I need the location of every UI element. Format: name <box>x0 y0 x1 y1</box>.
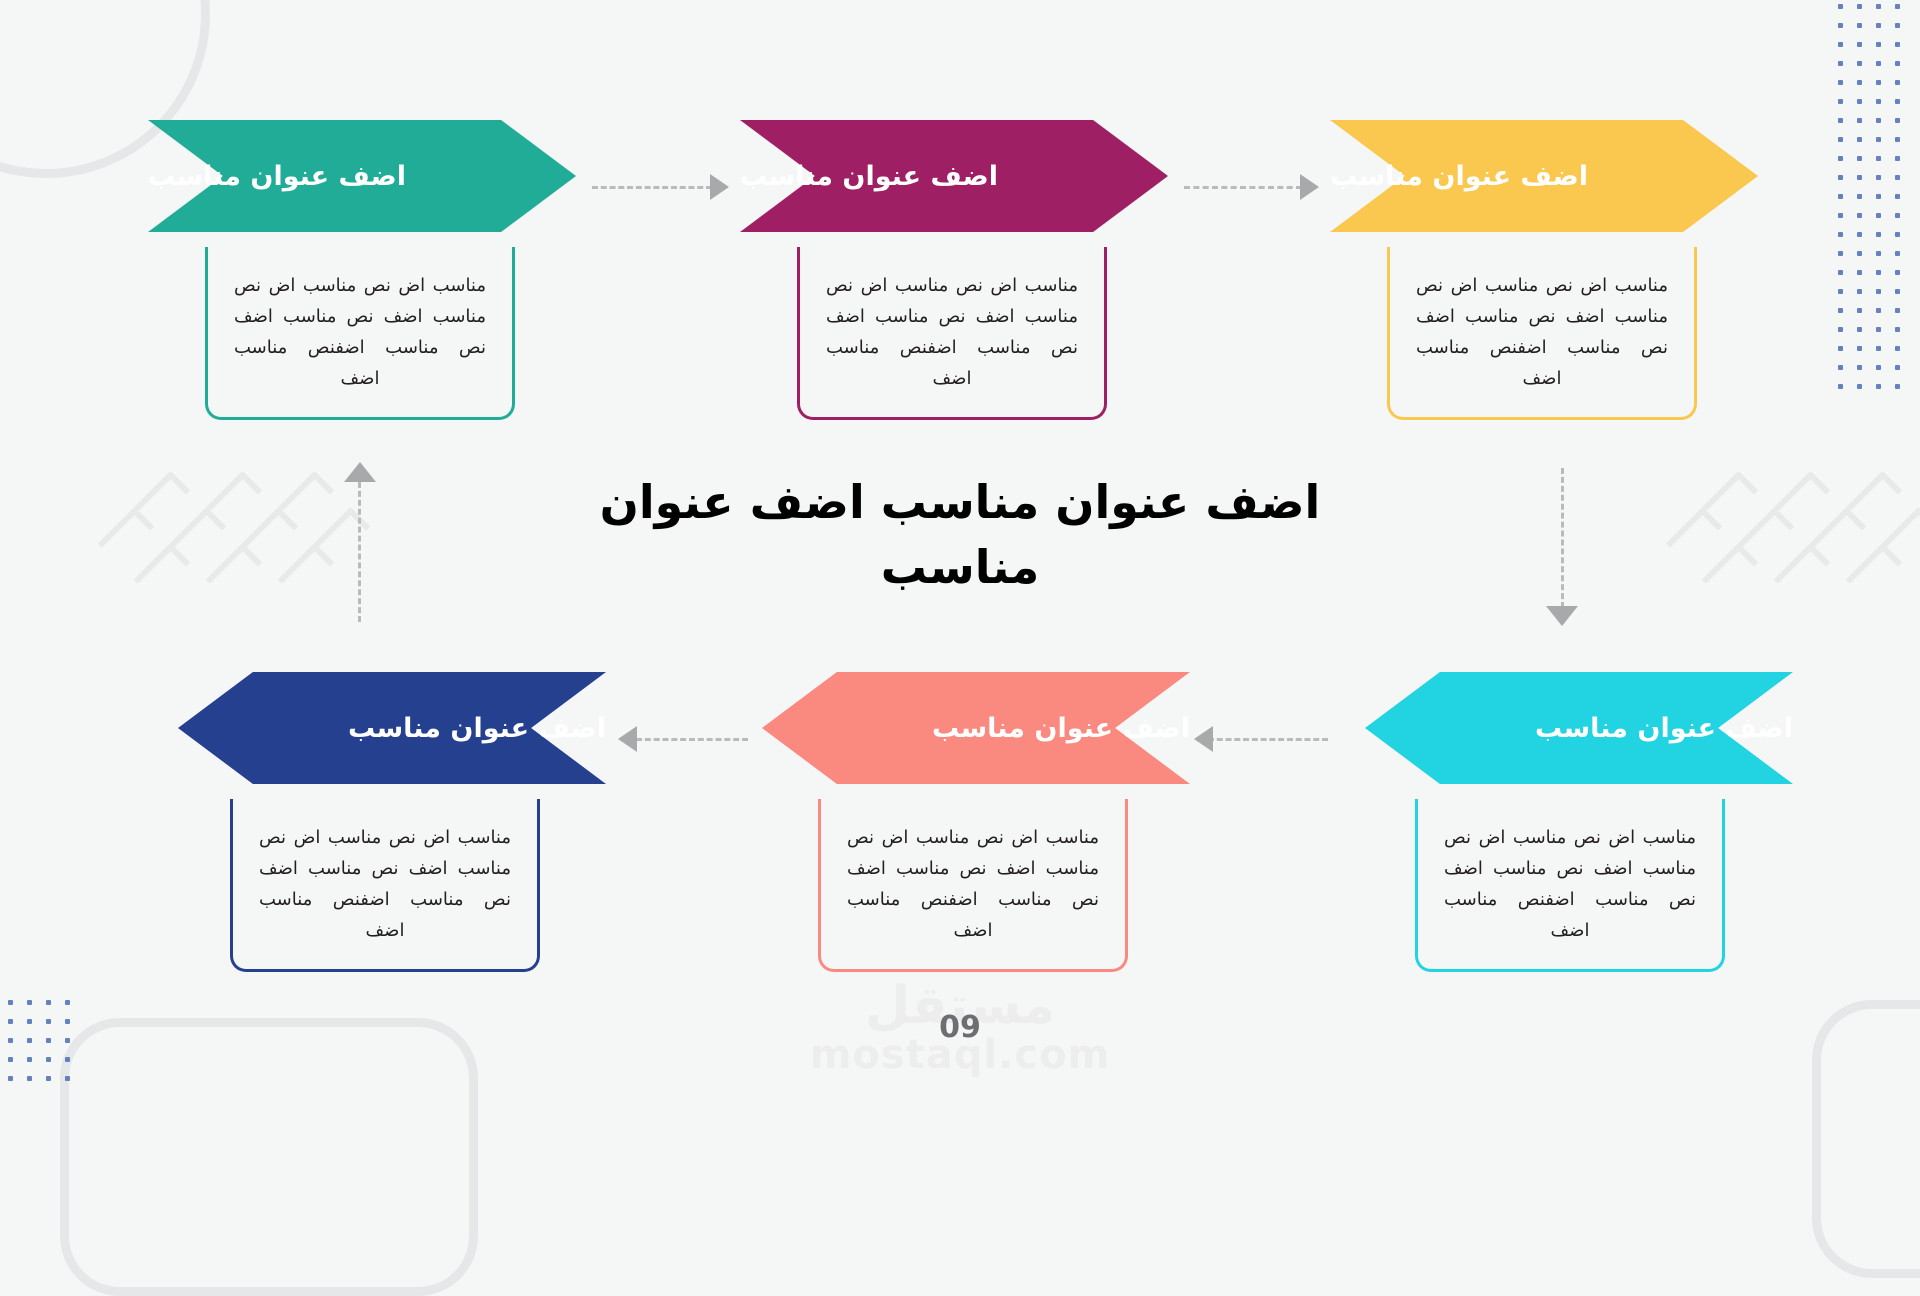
node-6[interactable]: اضف عنوان مناسب <box>178 672 606 784</box>
connector-4-5-arrowhead-icon <box>1194 726 1213 752</box>
node-6-body-box[interactable]: مناسب اض نص مناسب اض نص مناسب اضف نص منا… <box>230 799 540 972</box>
connector-4-5 <box>1208 738 1328 741</box>
node-3[interactable]: اضف عنوان مناسب <box>1330 120 1758 232</box>
node-4-body-box[interactable]: مناسب اض نص مناسب اض نص مناسب اضف نص منا… <box>1415 799 1725 972</box>
connector-2-3-arrowhead-icon <box>1300 174 1319 200</box>
node-3-banner[interactable]: اضف عنوان مناسب <box>1330 120 1758 232</box>
node-4-title: اضف عنوان مناسب <box>1443 713 1793 744</box>
page-number: 09 <box>939 1010 981 1045</box>
connector-3-4-arrowhead-icon <box>1546 606 1578 626</box>
node-2-body-text: مناسب اض نص مناسب اض نص مناسب اضف نص منا… <box>826 271 1078 395</box>
node-6-banner[interactable]: اضف عنوان مناسب <box>178 672 606 784</box>
node-6-title: اضف عنوان مناسب <box>256 713 606 744</box>
decor-dot-grid-top-right <box>1838 4 1914 403</box>
node-1-body-box[interactable]: مناسب اض نص مناسب اض نص مناسب اضف نص منا… <box>205 247 515 420</box>
node-2[interactable]: اضف عنوان مناسب <box>740 120 1168 232</box>
node-5-title: اضف عنوان مناسب <box>840 713 1190 744</box>
node-2-body-box[interactable]: مناسب اض نص مناسب اض نص مناسب اضف نص منا… <box>797 247 1107 420</box>
node-1-banner[interactable]: اضف عنوان مناسب <box>148 120 576 232</box>
node-1[interactable]: اضف عنوان مناسب <box>148 120 576 232</box>
connector-2-3 <box>1184 186 1302 189</box>
node-5-body-box[interactable]: مناسب اض نص مناسب اض نص مناسب اضف نص منا… <box>818 799 1128 972</box>
node-3-body-text: مناسب اض نص مناسب اض نص مناسب اضف نص منا… <box>1416 271 1668 395</box>
node-6-body-text: مناسب اض نص مناسب اض نص مناسب اضف نص منا… <box>259 823 511 947</box>
connector-5-6 <box>636 738 748 741</box>
node-3-body-box[interactable]: مناسب اض نص مناسب اض نص مناسب اضف نص منا… <box>1387 247 1697 420</box>
connector-1-2 <box>592 186 712 189</box>
slide-canvas: اضف عنوان مناسب مناسب اض نص مناسب اض نص … <box>0 0 1920 1080</box>
node-4-body-text: مناسب اض نص مناسب اض نص مناسب اضف نص منا… <box>1444 823 1696 947</box>
connector-1-2-arrowhead-icon <box>710 174 729 200</box>
connector-6-1 <box>358 482 361 622</box>
connector-1-2-dashline <box>592 186 712 189</box>
slide-footer: مستقل mostaql.com 09 <box>0 980 1920 1080</box>
node-5[interactable]: اضف عنوان مناسب <box>762 672 1190 784</box>
connector-6-1-arrowhead-icon <box>344 462 376 482</box>
connector-5-6-arrowhead-icon <box>618 726 637 752</box>
node-2-title: اضف عنوان مناسب <box>740 161 1086 192</box>
connector-5-6-dashline <box>636 738 748 741</box>
node-5-banner[interactable]: اضف عنوان مناسب <box>762 672 1190 784</box>
decor-chevron-pattern-left <box>100 485 390 595</box>
node-1-title: اضف عنوان مناسب <box>148 161 494 192</box>
node-4[interactable]: اضف عنوان مناسب <box>1365 672 1793 784</box>
connector-4-5-dashline <box>1208 738 1328 741</box>
decor-chevron-pattern-right <box>1668 485 1920 595</box>
connector-3-4 <box>1561 468 1564 608</box>
page-title: اضف عنوان مناسب اضف عنوان مناسب <box>560 470 1360 601</box>
connector-2-3-dashline <box>1184 186 1302 189</box>
node-4-banner[interactable]: اضف عنوان مناسب <box>1365 672 1793 784</box>
node-2-banner[interactable]: اضف عنوان مناسب <box>740 120 1168 232</box>
node-1-body-text: مناسب اض نص مناسب اض نص مناسب اضف نص منا… <box>234 271 486 395</box>
node-3-title: اضف عنوان مناسب <box>1330 161 1676 192</box>
node-5-body-text: مناسب اض نص مناسب اض نص مناسب اضف نص منا… <box>847 823 1099 947</box>
